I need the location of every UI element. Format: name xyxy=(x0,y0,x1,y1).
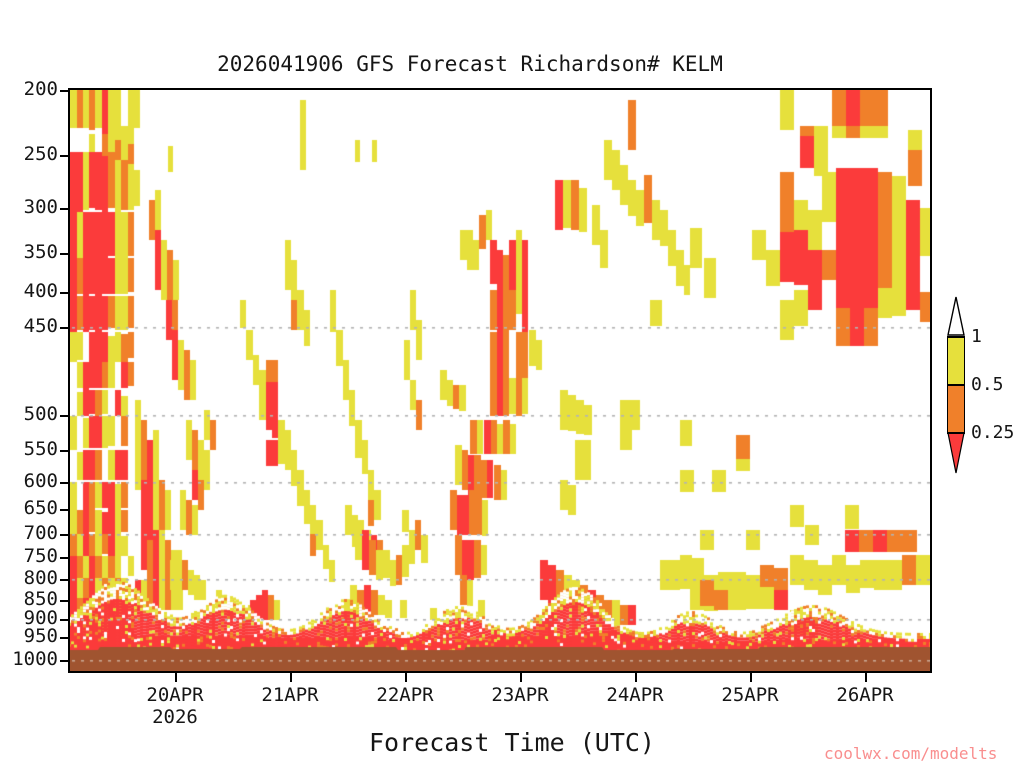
x-tick-mark-20apr xyxy=(175,673,177,682)
x-axis-year-label: 2026 xyxy=(115,706,235,728)
y-tick-label-350: 350 xyxy=(24,243,58,262)
x-tick-mark-24apr xyxy=(635,673,637,682)
y-tick-label-650: 650 xyxy=(24,499,58,518)
x-tick-label-25apr: 25APR xyxy=(690,684,810,706)
colorbar-divider-2 xyxy=(947,432,965,434)
x-tick-label-21apr: 21APR xyxy=(230,684,350,706)
y-tick-mark-700 xyxy=(60,534,69,536)
colorbar-seg-yellow xyxy=(947,336,965,384)
y-tick-mark-1000 xyxy=(60,660,69,662)
colorbar-seg-orange xyxy=(947,384,965,432)
x-tick-label-24apr: 24APR xyxy=(575,684,695,706)
y-tick-mark-750 xyxy=(60,557,69,559)
x-tick-mark-26apr xyxy=(865,673,867,682)
watermark: coolwx.com/modelts xyxy=(824,744,997,763)
y-tick-mark-400 xyxy=(60,292,69,294)
y-tick-label-400: 400 xyxy=(24,282,58,301)
y-tick-label-950: 950 xyxy=(24,627,58,646)
x-tick-mark-22apr xyxy=(405,673,407,682)
x-tick-label-23apr: 23APR xyxy=(460,684,580,706)
y-tick-label-300: 300 xyxy=(24,198,58,217)
y-tick-mark-300 xyxy=(60,208,69,210)
chart-page: 2026041906 GFS Forecast Richardson# KELM… xyxy=(0,0,1024,768)
y-tick-mark-800 xyxy=(60,579,69,581)
y-tick-mark-500 xyxy=(60,415,69,417)
y-tick-label-250: 250 xyxy=(24,145,58,164)
y-tick-mark-950 xyxy=(60,637,69,639)
y-tick-label-200: 200 xyxy=(24,80,58,99)
y-tick-label-800: 800 xyxy=(24,569,58,588)
page-title: 2026041906 GFS Forecast Richardson# KELM xyxy=(0,52,940,76)
y-tick-mark-250 xyxy=(60,155,69,157)
y-axis: 2002503003504004505005506006507007508008… xyxy=(0,0,58,768)
x-tick-mark-21apr xyxy=(290,673,292,682)
y-tick-label-700: 700 xyxy=(24,524,58,543)
y-tick-mark-550 xyxy=(60,450,69,452)
colorbar-divider-1 xyxy=(947,384,965,386)
x-tick-mark-23apr xyxy=(520,673,522,682)
colorbar-tick-0.5: 0.5 xyxy=(971,374,1004,395)
x-tick-label-22apr: 22APR xyxy=(345,684,465,706)
richardson-heatmap-canvas xyxy=(70,90,930,671)
colorbar xyxy=(947,296,965,475)
y-tick-mark-450 xyxy=(60,327,69,329)
y-tick-label-450: 450 xyxy=(24,317,58,336)
colorbar-bottom-arrow xyxy=(947,432,965,474)
y-tick-label-750: 750 xyxy=(24,547,58,566)
colorbar-tick-0.25: 0.25 xyxy=(971,422,1014,443)
y-tick-label-1000: 1000 xyxy=(12,650,58,669)
y-tick-mark-900 xyxy=(60,619,69,621)
colorbar-divider-0 xyxy=(947,336,965,338)
colorbar-tick-1: 1 xyxy=(971,326,982,347)
colorbar-top-arrow xyxy=(947,296,965,336)
y-tick-mark-350 xyxy=(60,253,69,255)
y-tick-mark-650 xyxy=(60,509,69,511)
y-tick-mark-200 xyxy=(60,90,69,92)
y-tick-label-600: 600 xyxy=(24,472,58,491)
y-tick-label-500: 500 xyxy=(24,405,58,424)
y-tick-mark-850 xyxy=(60,600,69,602)
x-tick-label-26apr: 26APR xyxy=(805,684,925,706)
x-tick-mark-25apr xyxy=(750,673,752,682)
plot-area xyxy=(68,88,932,673)
y-tick-label-550: 550 xyxy=(24,440,58,459)
x-tick-label-20apr: 20APR xyxy=(115,684,235,706)
y-tick-mark-600 xyxy=(60,482,69,484)
